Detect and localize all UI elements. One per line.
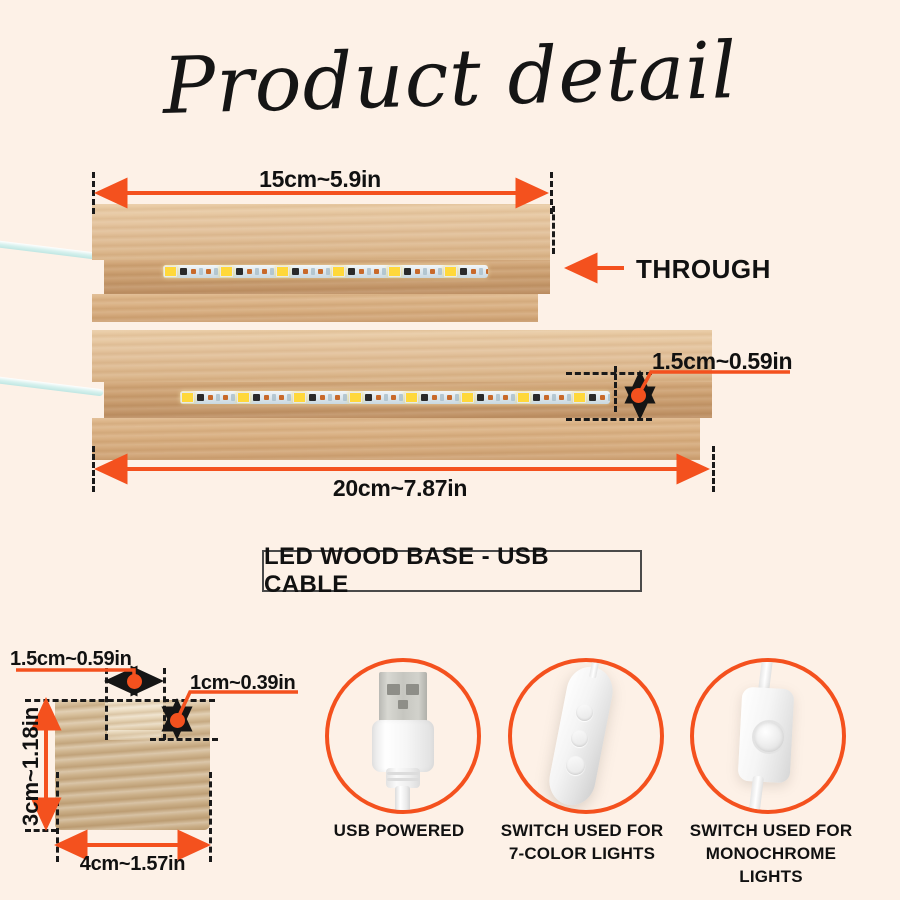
guide-through-upper [552, 206, 555, 254]
remote-button-middle-icon[interactable] [571, 730, 588, 747]
dim-groove-height: 1.5cm~0.59in [652, 348, 792, 375]
usb-contact-slot-center-icon [398, 700, 408, 709]
usb-plug-body-icon [372, 720, 434, 772]
usb-metal-shell-icon [379, 672, 427, 722]
guide-groove-top [566, 372, 652, 375]
xs-dim-groove-depth: 1cm~0.39in [190, 672, 295, 695]
remote-button-bottom-icon[interactable] [566, 756, 585, 775]
wood-base-upper-top [92, 204, 550, 260]
remote-button-top-icon[interactable] [576, 704, 593, 721]
wood-base-upper-front [92, 294, 538, 322]
xs-guide-notch-right [163, 668, 166, 740]
power-cable-lower [0, 376, 104, 396]
xs-dim-width: 4cm~1.57in [55, 853, 210, 876]
feature-label-inline-switch: SWITCH USED FOR MONOCHROME LIGHTS [676, 820, 866, 889]
guide-groove-bottom [566, 418, 652, 421]
page-title: Product detail [0, 21, 900, 136]
usb-strain-ring-2-icon [387, 778, 419, 781]
xs-guide-notch-left [105, 668, 108, 740]
xs-guide-notch-bottom [150, 738, 218, 741]
through-label: THROUGH [636, 254, 771, 285]
feature-label-remote-line1: SWITCH USED FOR [494, 820, 670, 843]
feature-circle-remote [508, 658, 664, 814]
feature-label-remote: SWITCH USED FOR 7-COLOR LIGHTS [494, 820, 670, 866]
usb-contact-slot-right-icon [406, 684, 419, 695]
usb-contact-slot-left-icon [387, 684, 400, 695]
xs-guide-left [56, 772, 59, 862]
power-cable-upper [0, 240, 104, 260]
feature-label-usb-line1: USB POWERED [325, 820, 473, 843]
feature-label-remote-line2: 7-COLOR LIGHTS [494, 843, 670, 866]
caption-box: LED WOOD BASE - USB CABLE [262, 550, 642, 592]
xs-guide-bottom [25, 829, 57, 832]
feature-label-inline-switch-line1: SWITCH USED FOR [676, 820, 866, 843]
usb-cable-icon [395, 786, 410, 814]
dim-top-width: 15cm~5.9in [0, 166, 640, 193]
feature-circle-inline-switch [690, 658, 846, 814]
xs-dim-groove-width: 1.5cm~0.59in [10, 648, 132, 671]
feature-label-inline-switch-line2: MONOCHROME LIGHTS [676, 843, 866, 889]
feature-label-usb: USB POWERED [325, 820, 473, 843]
caption-text: LED WOOD BASE - USB CABLE [264, 543, 640, 599]
feature-circle-usb [325, 658, 481, 814]
wood-base-lower-front [92, 418, 700, 460]
dim-bottom-width: 20cm~7.87in [0, 475, 800, 502]
leader-dot-groove-height [631, 388, 646, 403]
xs-guide-top [25, 699, 215, 702]
leader-dot-groove-width [127, 674, 142, 689]
usb-strain-ring-1-icon [387, 772, 419, 775]
inline-switch-button-icon[interactable] [752, 720, 786, 754]
led-strip-lower [180, 391, 610, 404]
leader-dot-groove-depth [170, 713, 185, 728]
xs-guide-right [209, 772, 212, 862]
led-strip-upper [163, 265, 488, 278]
product-detail-infographic: Product detail [0, 0, 900, 900]
xs-dim-height: 3cm~1.18in [18, 707, 44, 826]
